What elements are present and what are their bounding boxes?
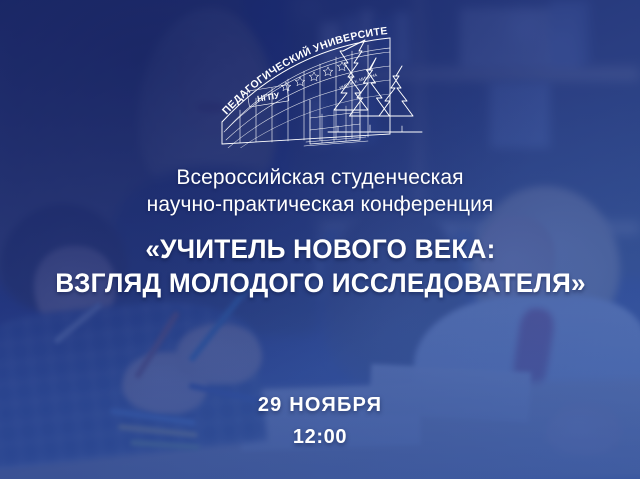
subtitle-line-2: научно-практическая конференция <box>147 191 494 218</box>
conference-main-title: «УЧИТЕЛЬ НОВОГО ВЕКА: ВЗГЛЯД МОЛОДОГО ИС… <box>55 232 586 300</box>
event-datetime: 29 НОЯБРЯ 12:00 <box>0 392 640 450</box>
logo-tree-slim <box>379 66 413 116</box>
subtitle-line-1: Всероссийская студенческая <box>147 164 494 191</box>
poster-content: ПЕДАГОГИЧЕСКИЙ УНИВЕРСИТЕТ ИМЕНИ К. МИНИ… <box>0 0 640 479</box>
main-title-line-2: ВЗГЛЯД МОЛОДОГО ИССЛЕДОВАТЕЛЯ» <box>55 266 586 300</box>
logo-tree-tall <box>334 40 368 110</box>
ngpu-university-logo: ПЕДАГОГИЧЕСКИЙ УНИВЕРСИТЕТ ИМЕНИ К. МИНИ… <box>210 22 430 148</box>
event-time: 12:00 <box>0 424 640 450</box>
event-date: 29 НОЯБРЯ <box>0 392 640 418</box>
logo-arc-text: ПЕДАГОГИЧЕСКИЙ УНИВЕРСИТЕТ <box>210 22 388 117</box>
conference-poster: ПЕДАГОГИЧЕСКИЙ УНИВЕРСИТЕТ ИМЕНИ К. МИНИ… <box>0 0 640 479</box>
logo-line-art: ПЕДАГОГИЧЕСКИЙ УНИВЕРСИТЕТ ИМЕНИ К. МИНИ… <box>210 22 430 148</box>
conference-subtitle: Всероссийская студенческая научно-практи… <box>147 164 494 218</box>
main-title-line-1: «УЧИТЕЛЬ НОВОГО ВЕКА: <box>55 232 586 266</box>
